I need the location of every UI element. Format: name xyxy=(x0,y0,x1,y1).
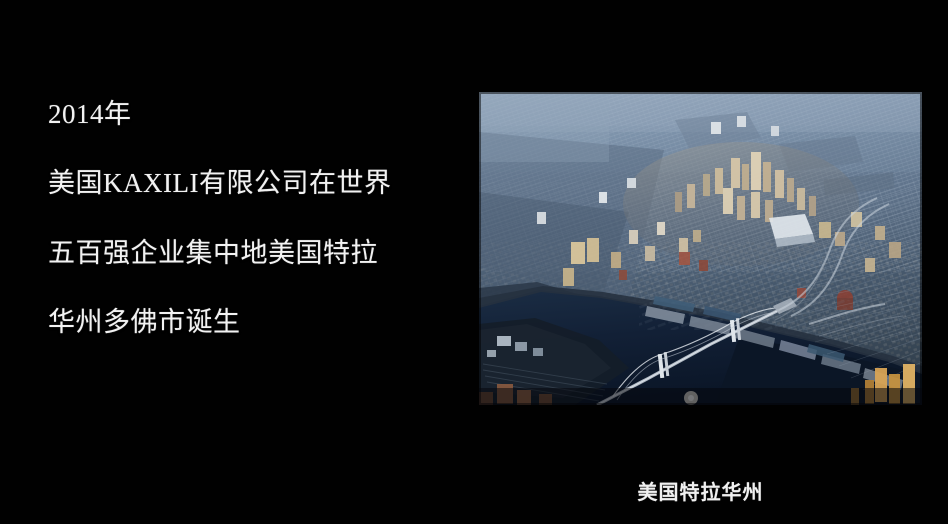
body-text-line-1: 2014年 xyxy=(48,100,448,128)
slide-root: 2014年 美国KAXILI有限公司在世界 五百强企业集中地美国特拉 华州多佛市… xyxy=(0,0,948,524)
body-text-line-2: 美国KAXILI有限公司在世界 xyxy=(48,169,448,197)
aerial-city-photo-graphic xyxy=(479,92,922,405)
aerial-city-photo xyxy=(479,92,922,405)
body-text-block: 2014年 美国KAXILI有限公司在世界 五百强企业集中地美国特拉 华州多佛市… xyxy=(48,100,448,336)
body-text-line-3: 五百强企业集中地美国特拉 xyxy=(48,239,448,267)
body-text-line-4: 华州多佛市诞生 xyxy=(48,308,448,336)
photo-caption: 美国特拉华州 xyxy=(479,476,922,505)
